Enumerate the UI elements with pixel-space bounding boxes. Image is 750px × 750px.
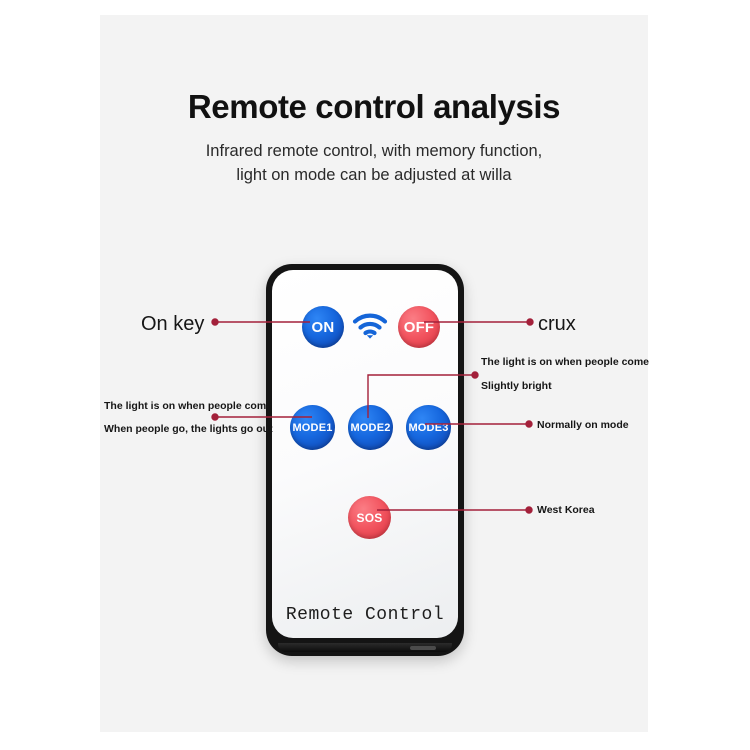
remote-base-edge [278,643,452,652]
page-title: Remote control analysis [100,88,648,126]
mode3-button[interactable]: MODE3 [406,405,451,450]
sos-button[interactable]: SOS [348,496,391,539]
on-button[interactable]: ON [302,306,344,348]
screenshot-root: Remote control analysis Infrared remote … [0,0,750,750]
off-button[interactable]: OFF [398,306,440,348]
remote-brand-label: Remote Control [272,605,458,625]
subtitle-line-1: Infrared remote control, with memory fun… [100,140,648,164]
mode1-button[interactable]: MODE1 [290,405,335,450]
remote-control-device: ON OFF MODE1 MODE2 MODE3 SOS Remote Cont… [266,264,464,656]
page-subtitle: Infrared remote control, with memory fun… [100,140,648,188]
mode2-button[interactable]: MODE2 [348,405,393,450]
wifi-icon [352,310,388,342]
subtitle-line-2: light on mode can be adjusted at willa [100,164,648,188]
header: Remote control analysis Infrared remote … [100,88,648,188]
remote-faceplate: ON OFF MODE1 MODE2 MODE3 SOS Remote Cont… [272,270,458,638]
